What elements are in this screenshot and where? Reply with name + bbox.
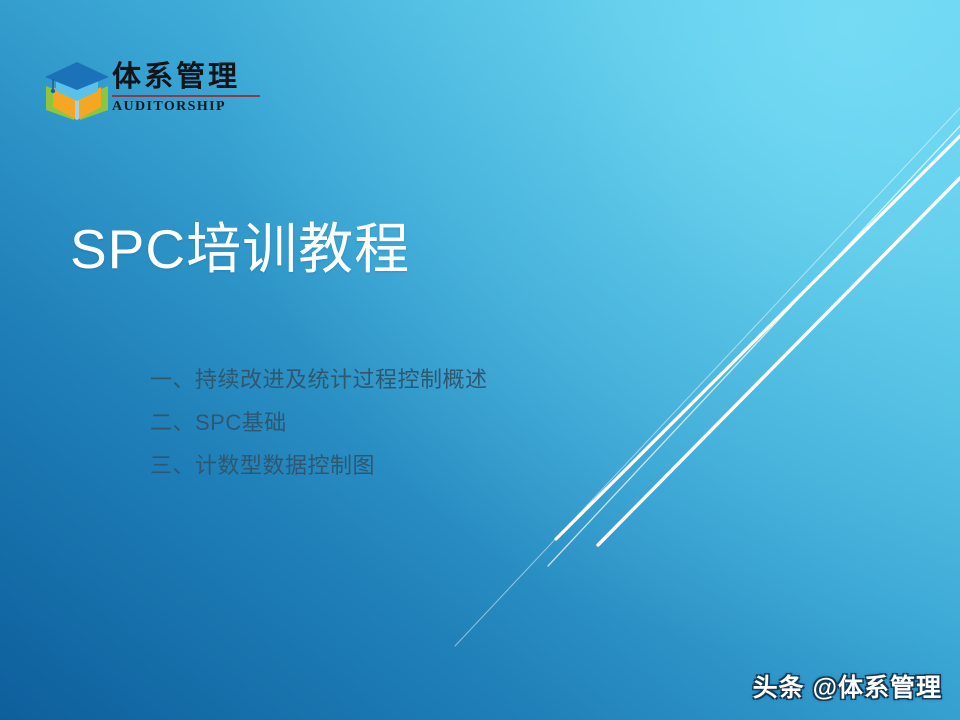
agenda-item-3: 三、计数型数据控制图 bbox=[150, 444, 670, 487]
watermark-text: 头条 @体系管理 bbox=[753, 668, 942, 704]
slide-title: SPC培训教程 bbox=[70, 213, 410, 285]
logo-english-name: AUDITORSHIP bbox=[112, 98, 262, 116]
agenda-item-1: 一、持续改进及统计过程控制概述 bbox=[150, 358, 670, 401]
agenda-list: 一、持续改进及统计过程控制概述 二、SPC基础 三、计数型数据控制图 bbox=[150, 358, 670, 487]
graduation-cap-open-book-icon bbox=[44, 60, 110, 122]
agenda-item-2: 二、SPC基础 bbox=[150, 401, 670, 444]
logo-divider-rule bbox=[112, 95, 260, 97]
presentation-slide: 体系管理 AUDITORSHIP SPC培训教程 一、持续改进及统计过程控制概述… bbox=[0, 0, 960, 720]
streak-line-2 bbox=[548, 126, 960, 566]
logo-chinese-name: 体系管理 bbox=[112, 58, 262, 94]
brand-logo: 体系管理 AUDITORSHIP bbox=[44, 58, 259, 126]
logo-wordmark: 体系管理 AUDITORSHIP bbox=[112, 58, 262, 116]
